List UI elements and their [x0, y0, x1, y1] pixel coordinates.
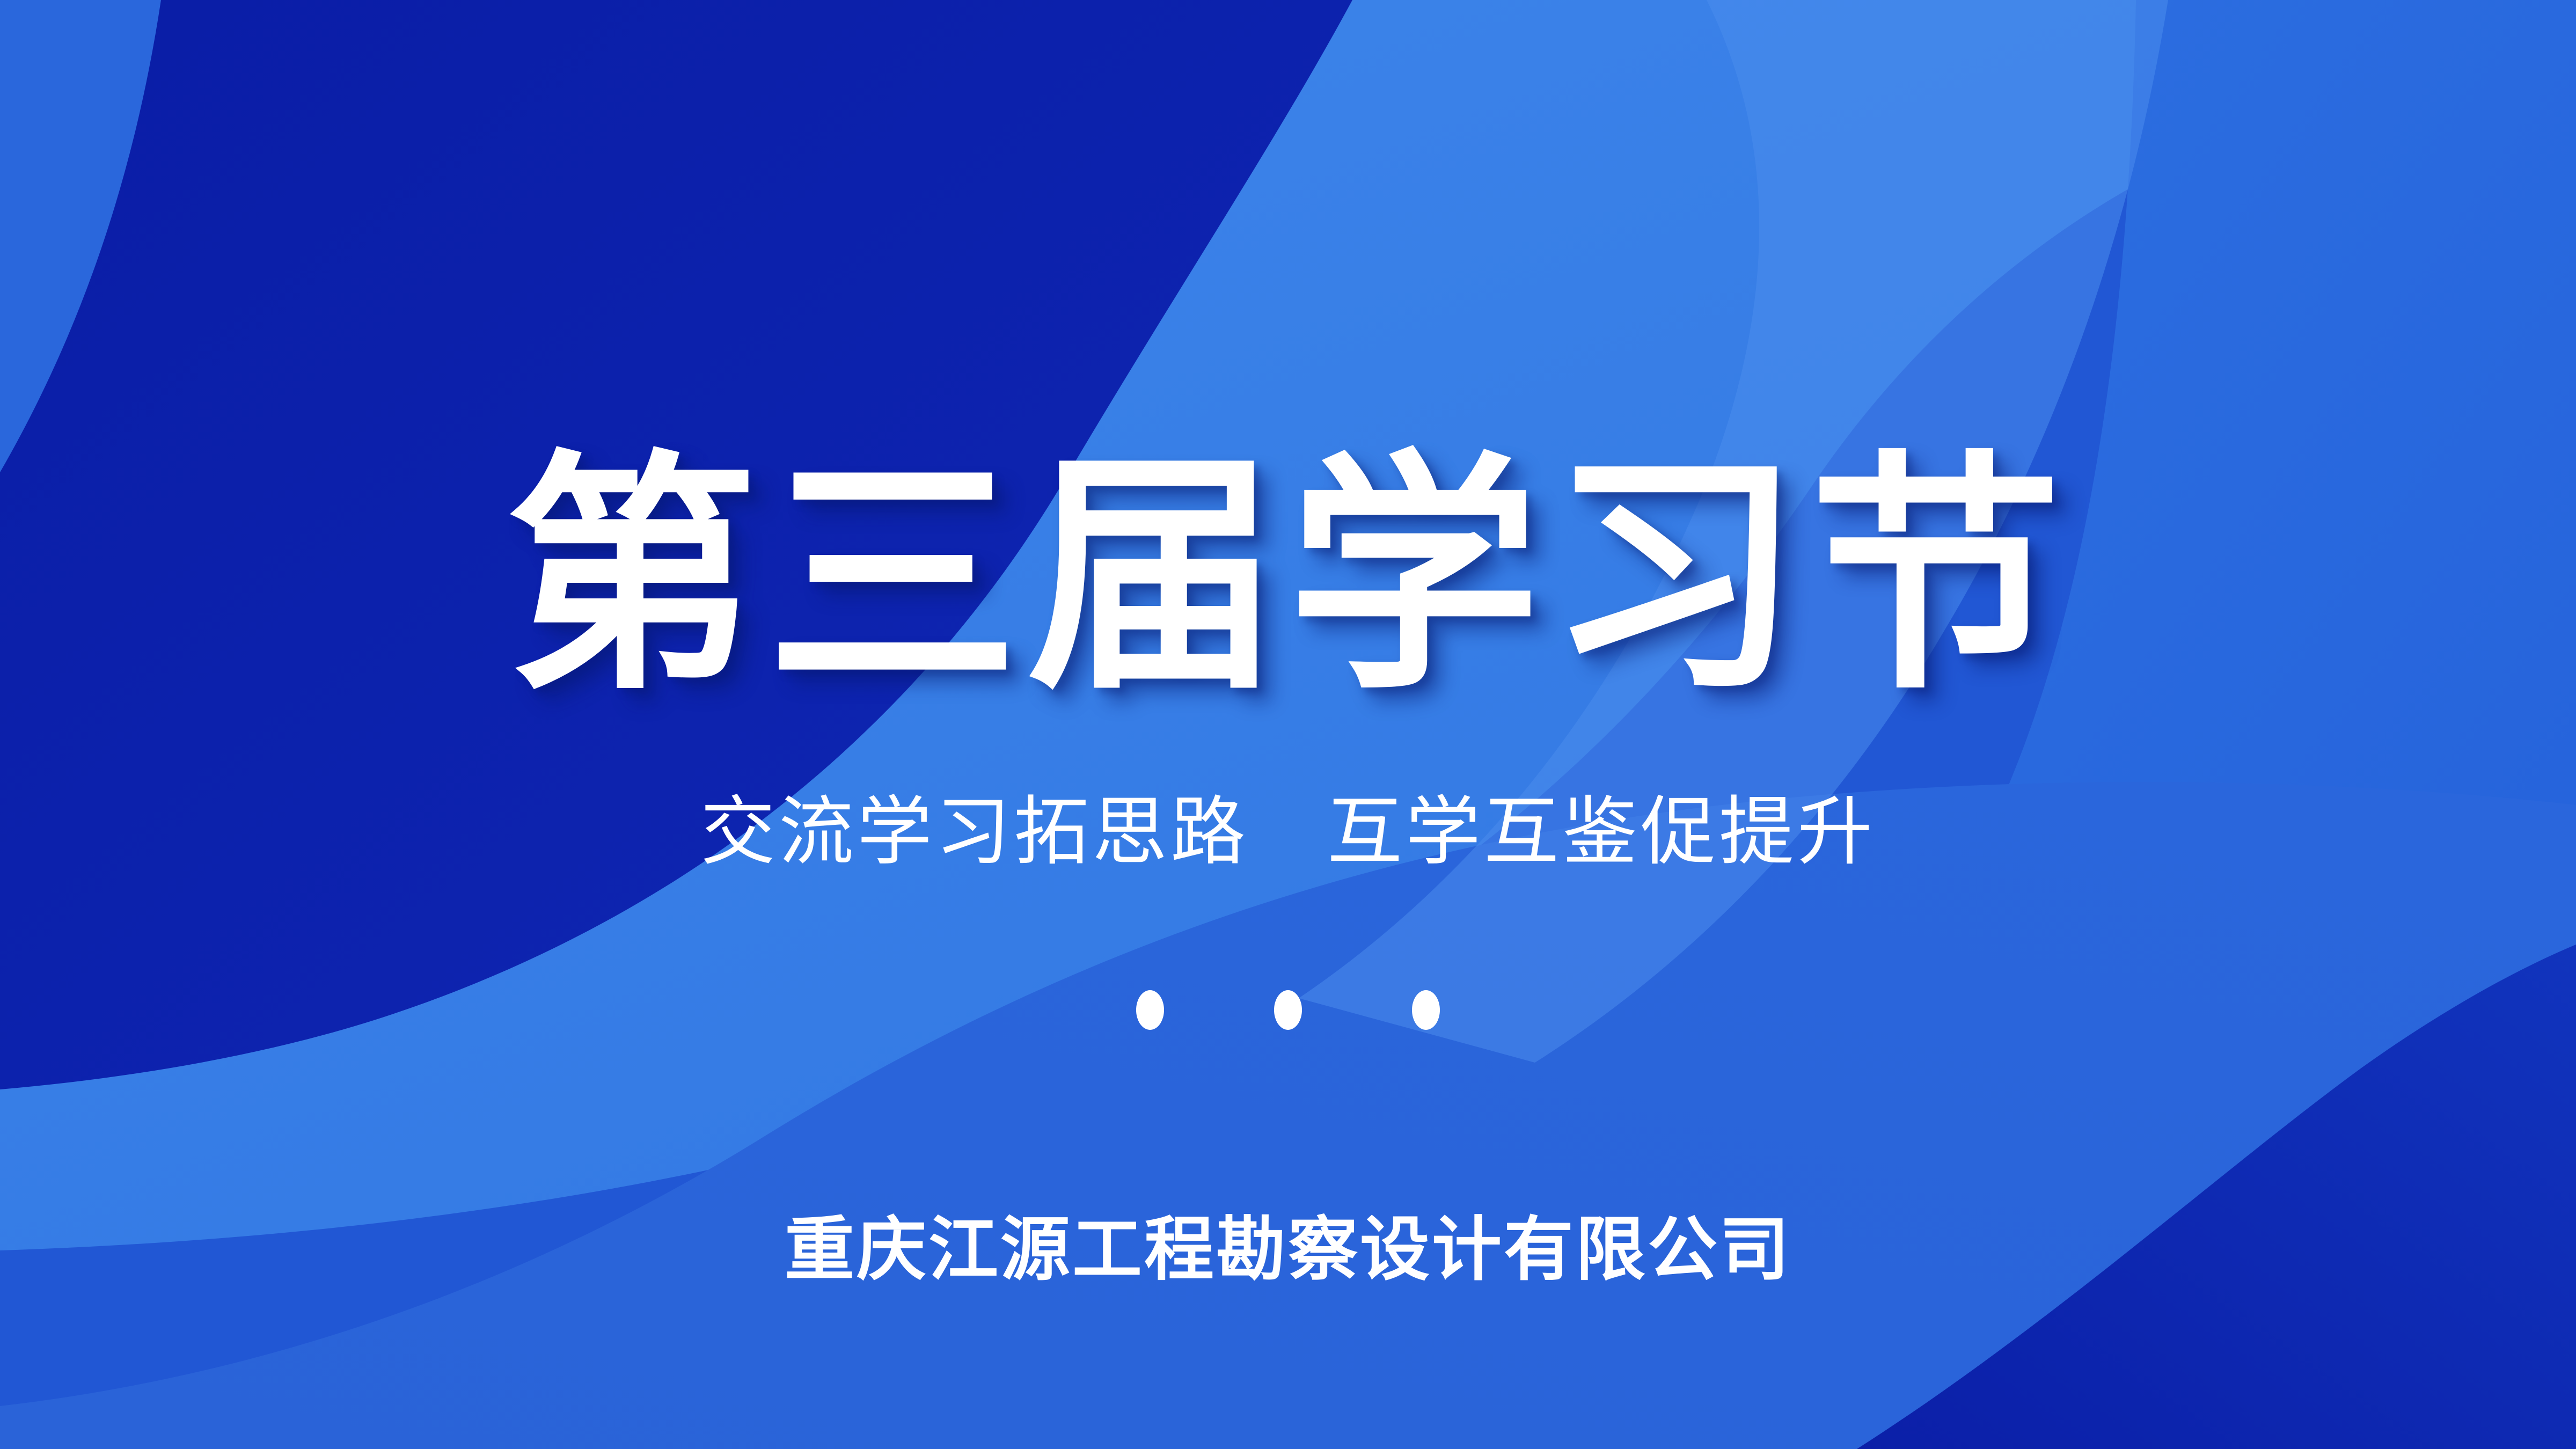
subtitle: 交流学习拓思路 互学互鉴促提升 — [0, 789, 2576, 875]
event-poster: 第三届学习节 交流学习拓思路 互学互鉴促提升 重庆江源工程勘察设计有限公司 — [0, 0, 2576, 1449]
page-title: 第三届学习节 — [0, 451, 2576, 703]
dot-icon-1 — [1136, 990, 1164, 1030]
company-name: 重庆江源工程勘察设计有限公司 — [0, 1207, 2576, 1291]
poster-content: 第三届学习节 交流学习拓思路 互学互鉴促提升 重庆江源工程勘察设计有限公司 — [0, 0, 2576, 1449]
dot-separator — [0, 990, 2576, 1030]
dot-icon-2 — [1274, 990, 1302, 1030]
dot-icon-3 — [1412, 990, 1440, 1030]
